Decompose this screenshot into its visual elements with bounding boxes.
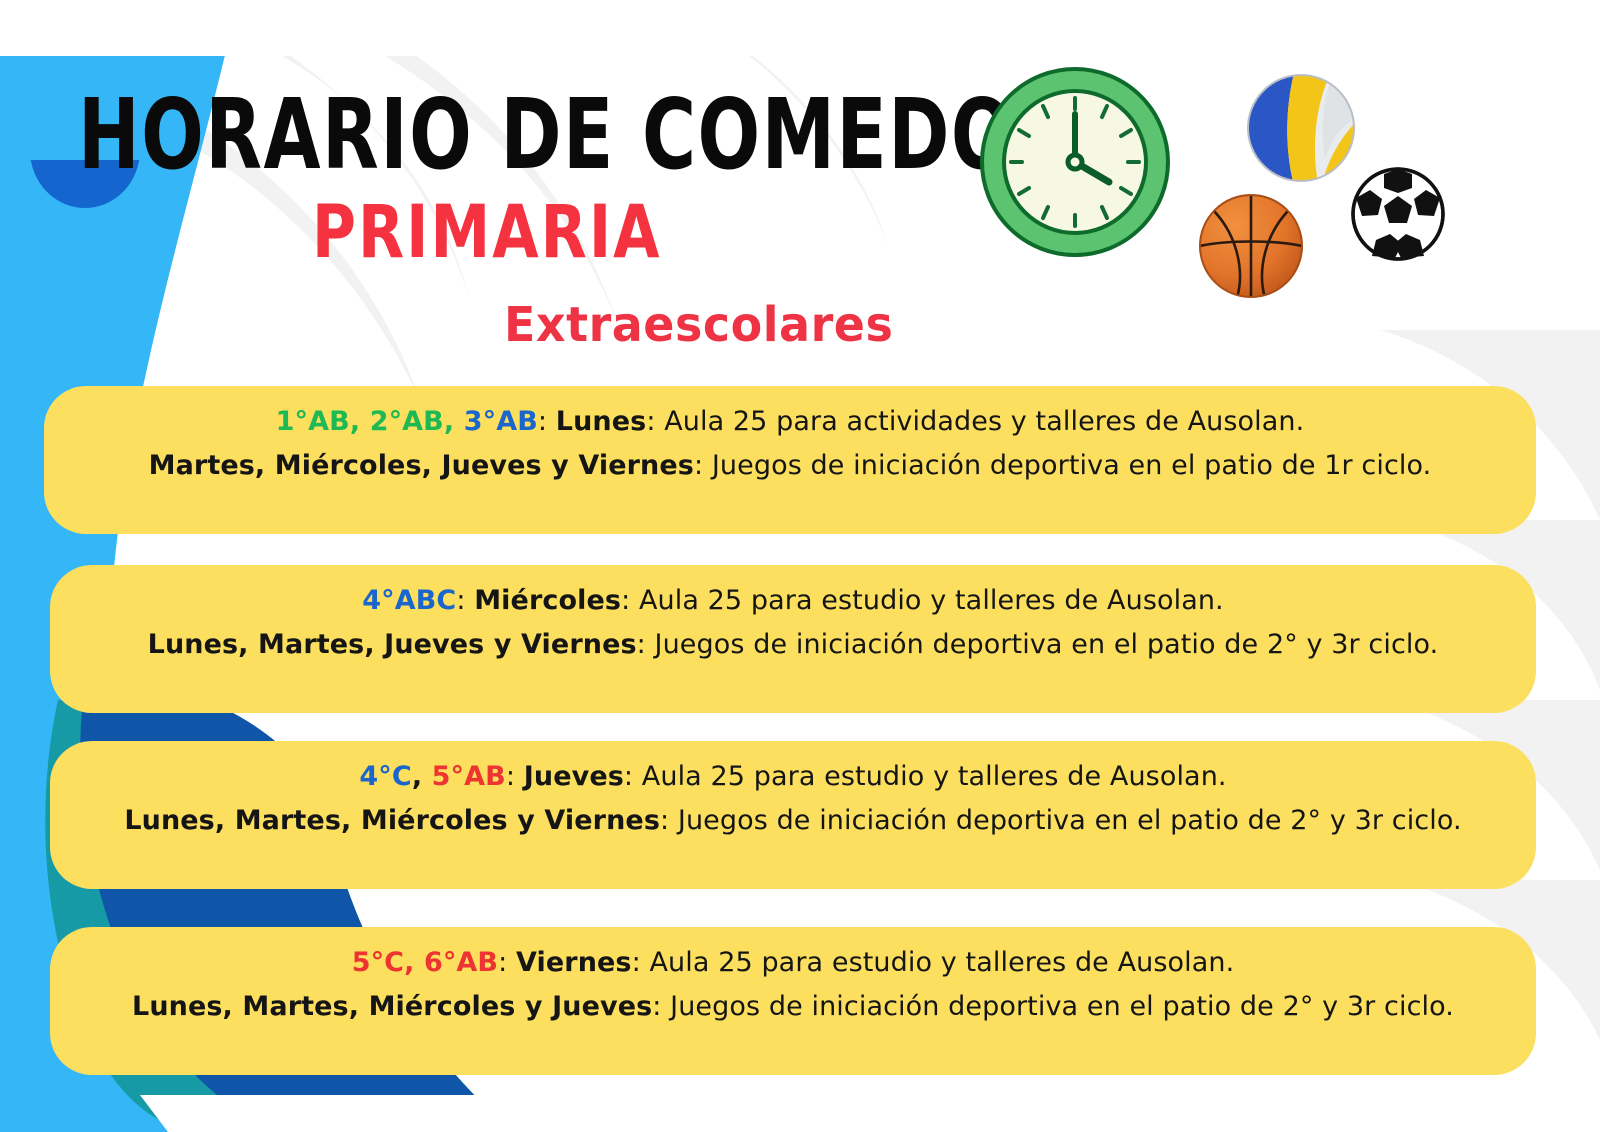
schedule-text-segment: 5°C, 6°AB <box>352 947 498 978</box>
schedule-text-segment: 3°AB <box>464 406 538 437</box>
schedule-card-line: 1°AB, 2°AB, 3°AB: Lunes: Aula 25 para ac… <box>276 400 1305 444</box>
schedule-text-segment: : Aula 25 para estudio y talleres de Aus… <box>624 761 1227 792</box>
schedule-text-segment: Lunes, Martes, Miércoles y Jueves <box>132 991 652 1022</box>
page-title: HORARIO DE COMEDOR <box>78 86 1073 183</box>
schedule-card-line: Martes, Miércoles, Jueves y Viernes: Jue… <box>149 444 1432 488</box>
schedule-text-segment: : <box>456 585 474 616</box>
schedule-text-segment: : Aula 25 para actividades y talleres de… <box>646 406 1304 437</box>
schedule-text-segment: : Juegos de iniciación deportiva en el p… <box>637 629 1439 660</box>
schedule-text-segment: : <box>538 406 556 437</box>
schedule-card-line: Lunes, Martes, Miércoles y Viernes: Jueg… <box>124 799 1461 843</box>
page-subtitle: PRIMARIA <box>312 196 662 269</box>
schedule-text-segment: Lunes, Martes, Jueves y Viernes <box>148 629 637 660</box>
schedule-card-line: Lunes, Martes, Miércoles y Jueves: Juego… <box>132 985 1454 1029</box>
schedule-card: 4°C, 5°AB: Jueves: Aula 25 para estudio … <box>50 741 1536 889</box>
schedule-text-segment: Miércoles <box>474 585 621 616</box>
schedule-text-segment: 5°AB <box>432 761 506 792</box>
schedule-card-line: Lunes, Martes, Jueves y Viernes: Juegos … <box>148 623 1439 667</box>
schedule-text-segment: : <box>498 947 516 978</box>
poster-canvas: HORARIO DE COMEDOR PRIMARIA Extraescolar… <box>0 0 1600 1132</box>
schedule-text-segment: Martes, Miércoles, Jueves y Viernes <box>149 450 694 481</box>
schedule-text-segment: : Aula 25 para estudio y talleres de Aus… <box>621 585 1224 616</box>
volleyball-icon <box>1245 72 1357 184</box>
soccer-icon <box>1350 166 1446 262</box>
schedule-card: 4°ABC: Miércoles: Aula 25 para estudio y… <box>50 565 1536 713</box>
schedule-text-segment: , <box>412 761 432 792</box>
schedule-card: 5°C, 6°AB: Viernes: Aula 25 para estudio… <box>50 927 1536 1075</box>
schedule-text-segment: 4°ABC <box>362 585 456 616</box>
schedule-card-line: 5°C, 6°AB: Viernes: Aula 25 para estudio… <box>352 941 1235 985</box>
schedule-text-segment: Lunes <box>556 406 647 437</box>
schedule-text-segment: : Juegos de iniciación deportiva en el p… <box>652 991 1454 1022</box>
schedule-text-segment: 4°C <box>359 761 411 792</box>
page-tertiary-title: Extraescolares <box>504 300 893 348</box>
schedule-text-segment: : Juegos de iniciación deportiva en el p… <box>660 805 1462 836</box>
clock-icon <box>975 62 1175 262</box>
schedule-card: 1°AB, 2°AB, 3°AB: Lunes: Aula 25 para ac… <box>44 386 1536 534</box>
schedule-text-segment: 1°AB, 2°AB, <box>276 406 464 437</box>
schedule-text-segment: Viernes <box>516 947 632 978</box>
schedule-text-segment: Lunes, Martes, Miércoles y Viernes <box>124 805 660 836</box>
schedule-text-segment: : Aula 25 para estudio y talleres de Aus… <box>632 947 1235 978</box>
schedule-text-segment: : Juegos de iniciación deportiva en el p… <box>694 450 1431 481</box>
schedule-text-segment: Jueves <box>524 761 624 792</box>
schedule-card-line: 4°C, 5°AB: Jueves: Aula 25 para estudio … <box>359 755 1226 799</box>
schedule-text-segment: : <box>506 761 524 792</box>
basketball-icon <box>1197 192 1305 300</box>
schedule-card-line: 4°ABC: Miércoles: Aula 25 para estudio y… <box>362 579 1224 623</box>
